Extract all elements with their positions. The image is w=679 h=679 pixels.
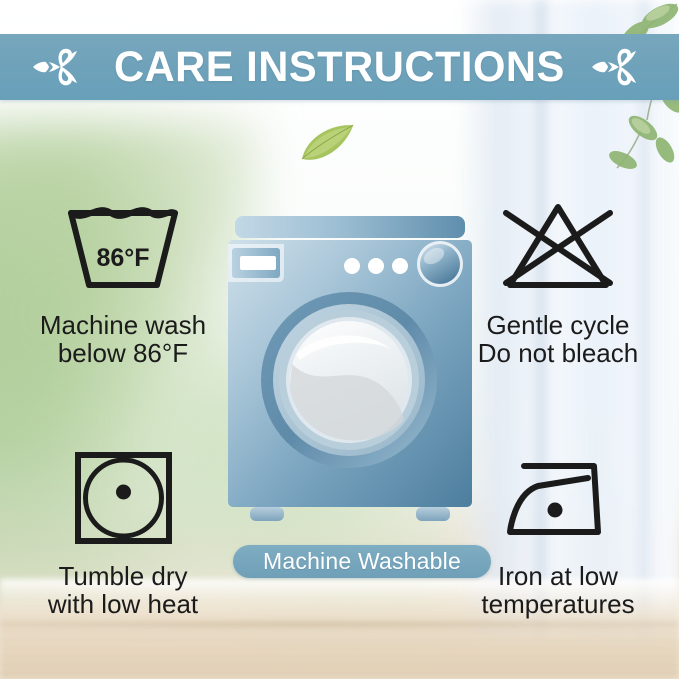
machine-indicator-dot	[344, 258, 360, 274]
care-symbol-label: Gentle cycle Do not bleach	[478, 311, 638, 367]
care-symbol-tumble-dry: Tumble dry with low heat	[8, 443, 238, 618]
machine-top-lid	[235, 216, 465, 238]
machine-foot-right	[416, 507, 450, 521]
fleur-de-lis-icon	[590, 45, 648, 89]
fleur-de-lis-icon	[31, 45, 89, 89]
machine-foot-left	[250, 507, 284, 521]
care-instructions-poster: CARE INSTRUCTIONS 86°F Machine wash belo…	[0, 0, 679, 679]
status-badge: Machine Washable	[233, 545, 491, 578]
care-symbol-label: Machine wash below 86°F	[40, 311, 206, 367]
page-title: CARE INSTRUCTIONS	[114, 46, 565, 89]
wash-tub-icon-wrap: 86°F	[63, 192, 183, 302]
background-table-grain	[0, 623, 679, 679]
tumble-dry-icon-wrap	[71, 443, 176, 553]
machine-indicator-dot	[392, 258, 408, 274]
crossed-triangle-icon	[498, 197, 618, 297]
care-symbol-label: Iron at low temperatures	[481, 562, 634, 618]
machine-indicator-dot	[368, 258, 384, 274]
care-symbol-iron: Iron at low temperatures	[443, 443, 673, 618]
washing-machine-illustration	[226, 214, 474, 536]
crossed-triangle-icon-wrap	[498, 192, 618, 302]
badge-label: Machine Washable	[263, 548, 461, 575]
care-symbol-label: Tumble dry with low heat	[48, 562, 198, 618]
header-banner: CARE INSTRUCTIONS	[0, 34, 679, 100]
care-symbol-do-not-bleach: Gentle cycle Do not bleach	[443, 192, 673, 367]
iron-one-dot-icon	[498, 448, 618, 548]
wash-temperature-value: 86°F	[63, 244, 183, 273]
tumble-dry-one-dot-icon	[71, 448, 176, 548]
care-symbol-machine-wash: 86°F Machine wash below 86°F	[8, 192, 238, 367]
iron-icon-wrap	[498, 443, 618, 553]
machine-drawer-slot	[240, 256, 276, 270]
